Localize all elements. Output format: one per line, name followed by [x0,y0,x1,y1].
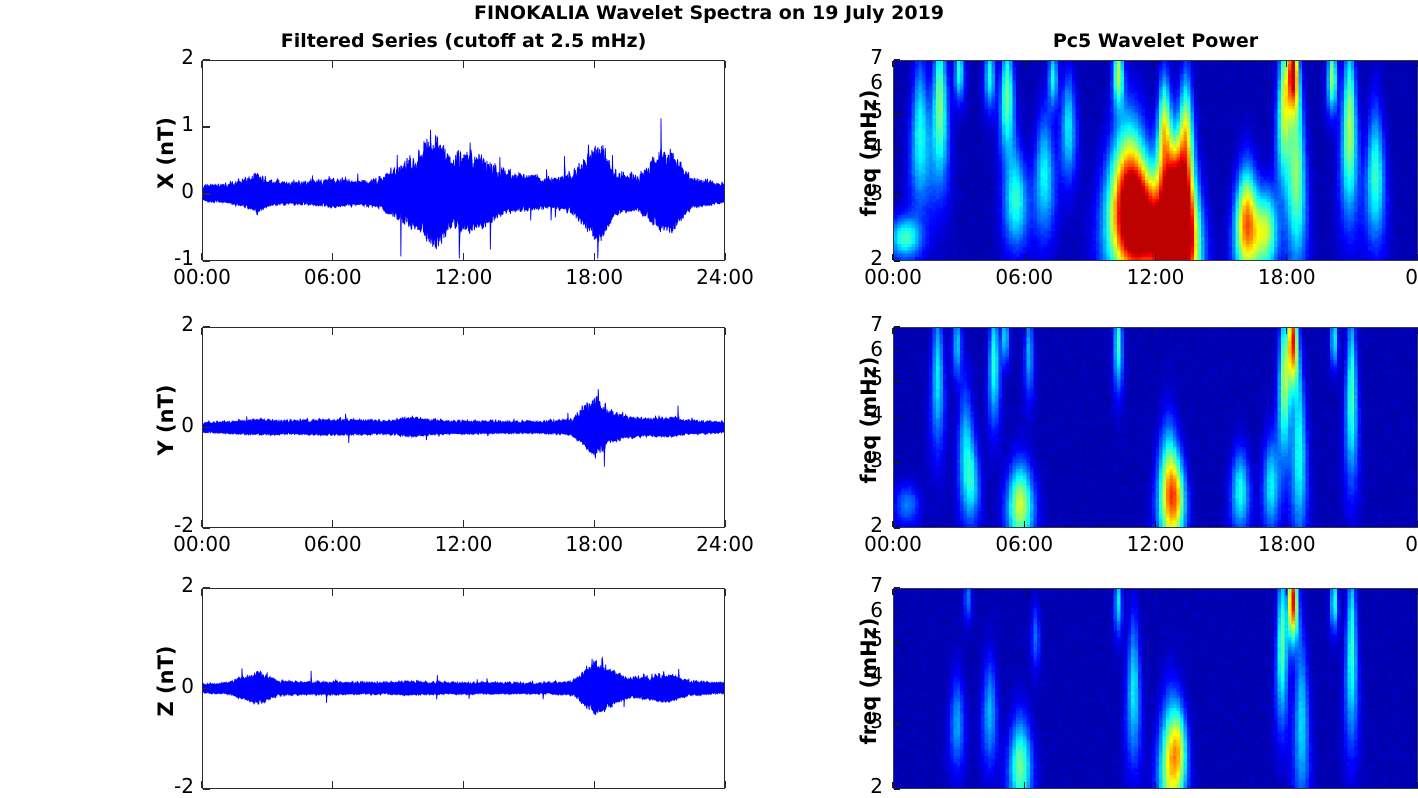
ytick-label-Y-filtered-series-1: 0 [138,415,194,435]
xtick-mark-top-Y-wavelet-power-2 [1155,328,1156,334]
xtick-mark-top-X-filtered-series-4 [724,61,725,68]
xtick-mark-Z-filtered-series-2 [463,781,464,788]
ytick-label-X-filtered-series-1: 0 [138,181,194,201]
xtick-mark-Y-wavelet-power-1 [1024,521,1025,527]
xtick-mark-top-Y-wavelet-power-0 [892,328,893,334]
xtick-mark-X-filtered-series-2 [463,253,464,260]
ytick-label-X-wavelet-power-4: 6 [831,72,883,92]
xtick-mark-Z-filtered-series-3 [594,781,595,788]
xtick-label-Y-filtered-series-4: 24:00 [665,534,785,554]
xtick-mark-Z-wavelet-power-2 [1155,782,1156,788]
xtick-mark-Z-filtered-series-0 [201,781,202,788]
xtick-label-X-wavelet-power-3: 18:00 [1227,267,1347,287]
xtick-mark-X-filtered-series-0 [201,253,202,260]
series-y-trace [203,328,724,527]
xtick-label-X-filtered-series-3: 18:00 [534,267,654,287]
xtick-mark-top-Y-wavelet-power-3 [1286,328,1287,334]
plot-z-filtered-series[interactable] [202,588,725,789]
xtick-mark-Y-wavelet-power-3 [1286,521,1287,527]
spectrogram-x [894,61,1417,260]
plot-y-filtered-series[interactable] [202,327,725,528]
xtick-label-X-filtered-series-4: 24:00 [665,267,785,287]
xtick-mark-top-Z-wavelet-power-1 [1024,589,1025,595]
ytick-label-X-wavelet-power-5: 7 [831,47,883,67]
xtick-label-X-wavelet-power-2: 12:00 [1096,267,1216,287]
xtick-mark-Z-filtered-series-4 [724,781,725,788]
xtick-mark-X-filtered-series-3 [594,253,595,260]
xtick-label-X-filtered-series-2: 12:00 [404,267,524,287]
ytick-mark-Z-wavelet-power-2 [894,677,900,678]
xtick-mark-Y-filtered-series-1 [332,520,333,527]
ytick-mark-X-wavelet-power-4 [894,84,900,85]
ytick-label-Y-filtered-series-2: 2 [138,314,194,334]
figure-canvas: FINOKALIA Wavelet Spectra on 19 July 201… [0,0,1418,788]
xtick-label-X-wavelet-power-0: 00:00 [833,267,953,287]
xtick-mark-top-X-wavelet-power-2 [1155,61,1156,67]
ytick-mark-Y-filtered-series-0 [203,527,210,528]
xtick-mark-top-Y-filtered-series-0 [201,328,202,335]
ytick-label-Y-wavelet-power-5: 7 [831,314,883,334]
xtick-mark-top-Z-wavelet-power-2 [1155,589,1156,595]
xtick-mark-top-X-wavelet-power-1 [1024,61,1025,67]
ytick-mark-Z-filtered-series-2 [203,587,210,588]
xtick-mark-top-X-filtered-series-1 [332,61,333,68]
xtick-mark-top-X-filtered-series-3 [594,61,595,68]
xtick-mark-top-X-filtered-series-0 [201,61,202,68]
xtick-mark-top-Z-filtered-series-0 [201,589,202,596]
xtick-label-Y-filtered-series-1: 06:00 [273,534,393,554]
xtick-mark-top-Z-filtered-series-2 [463,589,464,596]
ytick-label-X-wavelet-power-3: 5 [831,101,883,121]
xtick-label-X-wavelet-power-1: 06:00 [964,267,1084,287]
ytick-mark-X-wavelet-power-1 [894,195,900,196]
series-x-trace [203,61,724,260]
ytick-mark-X-wavelet-power-0 [894,260,900,261]
ytick-mark-Z-filtered-series-1 [203,688,210,689]
xtick-mark-top-Y-filtered-series-2 [463,328,464,335]
xtick-label-Y-wavelet-power-2: 12:00 [1096,534,1216,554]
xtick-mark-X-wavelet-power-0 [892,254,893,260]
xtick-label-X-filtered-series-0: 00:00 [142,267,262,287]
ytick-label-X-filtered-series-3: 2 [138,47,194,67]
ytick-mark-Y-wavelet-power-1 [894,462,900,463]
ytick-mark-Y-wavelet-power-4 [894,351,900,352]
ytick-mark-Y-filtered-series-1 [203,427,210,428]
ytick-label-Y-wavelet-power-4: 6 [831,339,883,359]
plot-y-wavelet-power[interactable] [893,327,1418,528]
xtick-label-Y-wavelet-power-0: 00:00 [833,534,953,554]
xtick-mark-X-filtered-series-1 [332,253,333,260]
xtick-label-Y-wavelet-power-4: 00 [1358,534,1418,554]
xtick-label-Y-filtered-series-2: 12:00 [404,534,524,554]
ytick-label-Z-filtered-series-1: 0 [138,676,194,696]
xtick-mark-Y-filtered-series-2 [463,520,464,527]
xtick-mark-Z-wavelet-power-3 [1286,782,1287,788]
left-column-title: Filtered Series (cutoff at 2.5 mHz) [202,30,725,52]
xtick-mark-top-Y-filtered-series-3 [594,328,595,335]
ytick-label-Z-wavelet-power-1: 3 [831,711,883,731]
ytick-mark-X-wavelet-power-5 [894,59,900,60]
xtick-label-Y-wavelet-power-1: 06:00 [964,534,1084,554]
ytick-label-X-wavelet-power-2: 4 [831,137,883,157]
ytick-mark-Z-wavelet-power-0 [894,788,900,789]
ytick-label-Z-wavelet-power-0: 2 [831,776,883,796]
ytick-mark-X-wavelet-power-3 [894,113,900,114]
ytick-mark-Z-wavelet-power-1 [894,723,900,724]
ytick-mark-X-filtered-series-1 [203,193,210,194]
ytick-mark-Z-filtered-series-0 [203,788,210,789]
xtick-mark-Z-wavelet-power-1 [1024,782,1025,788]
plot-x-wavelet-power[interactable] [893,60,1418,261]
xtick-label-X-wavelet-power-4: 00 [1358,267,1418,287]
ytick-mark-X-wavelet-power-2 [894,149,900,150]
xtick-mark-Y-filtered-series-4 [724,520,725,527]
right-column-title: Pc5 Wavelet Power [893,30,1418,52]
xtick-mark-top-Z-wavelet-power-3 [1286,589,1287,595]
spectrogram-y [894,328,1417,527]
xtick-mark-Z-filtered-series-1 [332,781,333,788]
ytick-label-Z-wavelet-power-2: 4 [831,665,883,685]
ytick-mark-Z-wavelet-power-3 [894,641,900,642]
xtick-mark-top-Z-filtered-series-1 [332,589,333,596]
ytick-mark-Z-wavelet-power-4 [894,612,900,613]
ytick-mark-Y-wavelet-power-2 [894,416,900,417]
xtick-mark-top-Z-filtered-series-3 [594,589,595,596]
xtick-mark-Y-filtered-series-0 [201,520,202,527]
xtick-mark-top-X-filtered-series-2 [463,61,464,68]
spectrogram-z [894,589,1417,788]
xtick-mark-X-wavelet-power-1 [1024,254,1025,260]
xtick-mark-Z-wavelet-power-0 [892,782,893,788]
ytick-mark-Z-wavelet-power-5 [894,587,900,588]
ytick-label-X-filtered-series-2: 1 [138,114,194,134]
ytick-mark-Y-wavelet-power-0 [894,527,900,528]
xtick-mark-X-wavelet-power-3 [1286,254,1287,260]
ytick-label-Y-wavelet-power-1: 3 [831,450,883,470]
ytick-mark-X-filtered-series-2 [203,126,210,127]
xtick-mark-top-Z-filtered-series-4 [724,589,725,596]
xtick-mark-Y-wavelet-power-2 [1155,521,1156,527]
xtick-mark-top-Z-wavelet-power-0 [892,589,893,595]
ytick-label-Z-filtered-series-2: 2 [138,575,194,595]
xtick-mark-Y-filtered-series-3 [594,520,595,527]
ytick-label-X-wavelet-power-1: 3 [831,183,883,203]
ytick-label-Y-wavelet-power-3: 5 [831,368,883,388]
ytick-mark-X-filtered-series-0 [203,260,210,261]
xtick-mark-top-X-wavelet-power-0 [892,61,893,67]
ytick-label-Y-wavelet-power-2: 4 [831,404,883,424]
ytick-label-Z-filtered-series-0: -2 [138,776,194,796]
ytick-mark-Y-wavelet-power-5 [894,326,900,327]
xtick-mark-Y-wavelet-power-0 [892,521,893,527]
xtick-label-X-filtered-series-1: 06:00 [273,267,393,287]
plot-z-wavelet-power[interactable] [893,588,1418,789]
xtick-mark-X-filtered-series-4 [724,253,725,260]
ytick-mark-Y-wavelet-power-3 [894,380,900,381]
xtick-mark-X-wavelet-power-2 [1155,254,1156,260]
xtick-label-Y-filtered-series-3: 18:00 [534,534,654,554]
ytick-label-Z-wavelet-power-5: 7 [831,575,883,595]
plot-x-filtered-series[interactable] [202,60,725,261]
series-z-trace [203,589,724,788]
xtick-label-Y-filtered-series-0: 00:00 [142,534,262,554]
figure-suptitle: FINOKALIA Wavelet Spectra on 19 July 201… [0,2,1418,24]
ytick-label-Z-wavelet-power-3: 5 [831,629,883,649]
xtick-label-Y-wavelet-power-3: 18:00 [1227,534,1347,554]
xtick-mark-top-Y-wavelet-power-1 [1024,328,1025,334]
ytick-label-Z-wavelet-power-4: 6 [831,600,883,620]
ytick-mark-X-filtered-series-3 [203,59,210,60]
xtick-mark-top-Y-filtered-series-4 [724,328,725,335]
xtick-mark-top-Y-filtered-series-1 [332,328,333,335]
ytick-mark-Y-filtered-series-2 [203,326,210,327]
xtick-mark-top-X-wavelet-power-3 [1286,61,1287,67]
